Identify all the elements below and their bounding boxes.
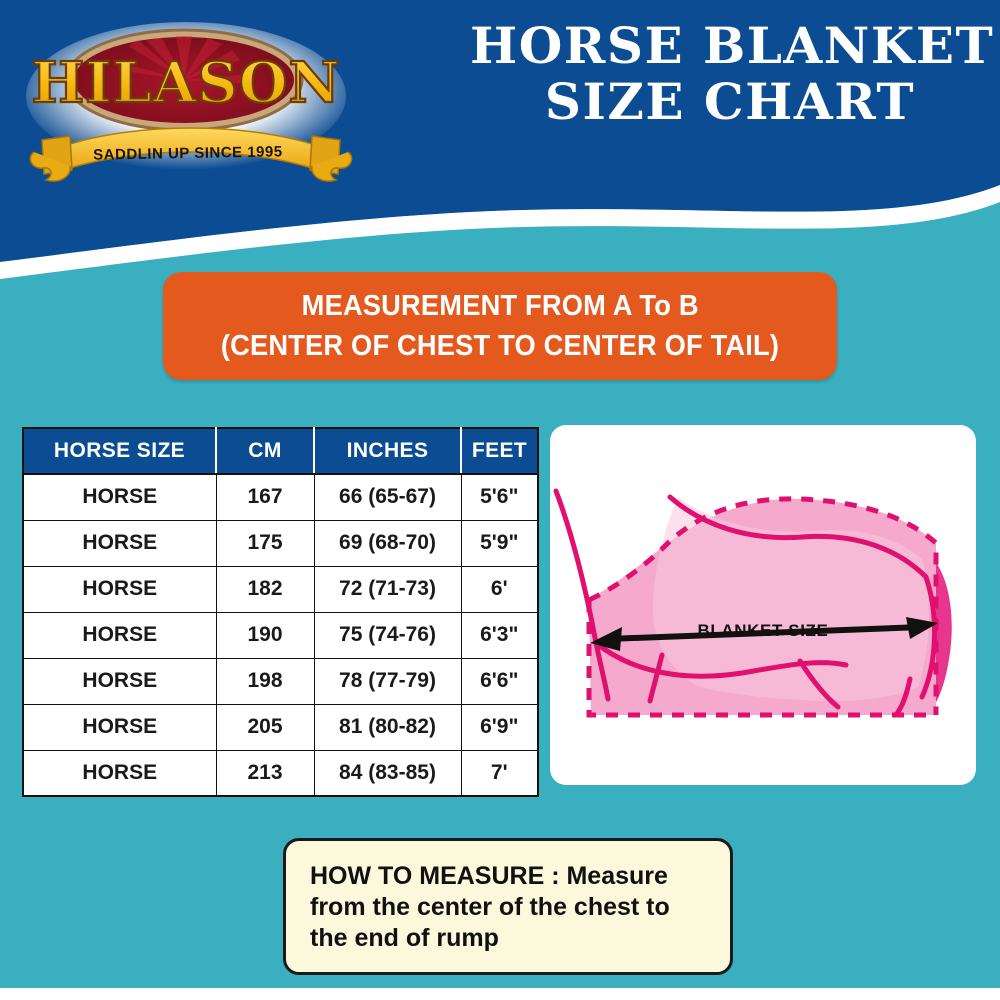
- page-header: HILASON SADDLIN UP SINCE 1995 HORSE BLAN…: [0, 0, 1000, 290]
- table-row: HORSE 182 72 (71-73) 6': [23, 566, 538, 612]
- cell-inches: 69 (68-70): [314, 520, 461, 566]
- cell-feet: 6'9": [461, 704, 538, 750]
- logo-brand-text: HILASON: [31, 50, 340, 116]
- page-title-line-1: HORSE BLANKET: [470, 18, 990, 74]
- size-chart-page: HILASON SADDLIN UP SINCE 1995 HORSE BLAN…: [0, 0, 1000, 1000]
- column-header-cm: CM: [216, 428, 314, 474]
- cell-horse-size: HORSE: [23, 566, 216, 612]
- cell-feet: 6'3": [461, 612, 538, 658]
- how-to-measure-label: HOW TO MEASURE :: [310, 862, 566, 890]
- column-header-feet: FEET: [461, 428, 538, 474]
- logo-tagline-text: SADDLIN UP SINCE 1995: [93, 143, 283, 163]
- measurement-banner: MEASUREMENT FROM A To B (CENTER OF CHEST…: [163, 272, 837, 380]
- cell-inches: 75 (74-76): [314, 612, 461, 658]
- bottom-strip: [0, 988, 1000, 1000]
- cell-inches: 84 (83-85): [314, 750, 461, 796]
- cell-cm: 182: [216, 566, 314, 612]
- cell-cm: 198: [216, 658, 314, 704]
- table-row: HORSE 175 69 (68-70) 5'9": [23, 520, 538, 566]
- cell-cm: 167: [216, 474, 314, 520]
- how-to-measure-text: HOW TO MEASURE : Measure from the center…: [310, 861, 706, 954]
- table-row: HORSE 198 78 (77-79) 6'6": [23, 658, 538, 704]
- column-header-horse-size: HORSE SIZE: [23, 428, 216, 474]
- cell-cm: 213: [216, 750, 314, 796]
- cell-cm: 205: [216, 704, 314, 750]
- cell-feet: 6': [461, 566, 538, 612]
- cell-cm: 190: [216, 612, 314, 658]
- cell-horse-size: HORSE: [23, 520, 216, 566]
- cell-horse-size: HORSE: [23, 704, 216, 750]
- page-title-line-2: SIZE CHART: [470, 74, 990, 130]
- how-to-measure-box: HOW TO MEASURE : Measure from the center…: [283, 838, 733, 975]
- cell-feet: 6'6": [461, 658, 538, 704]
- cell-horse-size: HORSE: [23, 750, 216, 796]
- table-header-row: HORSE SIZE CM INCHES FEET: [23, 428, 538, 474]
- cell-inches: 78 (77-79): [314, 658, 461, 704]
- table-row: HORSE 205 81 (80-82) 6'9": [23, 704, 538, 750]
- size-chart-table: HORSE SIZE CM INCHES FEET HORSE 167 66 (…: [22, 427, 539, 797]
- cell-cm: 175: [216, 520, 314, 566]
- page-title: HORSE BLANKET SIZE CHART: [470, 18, 990, 130]
- cell-horse-size: HORSE: [23, 658, 216, 704]
- cell-horse-size: HORSE: [23, 474, 216, 520]
- cell-inches: 72 (71-73): [314, 566, 461, 612]
- cell-inches: 81 (80-82): [314, 704, 461, 750]
- cell-feet: 5'9": [461, 520, 538, 566]
- hilason-logo: HILASON SADDLIN UP SINCE 1995: [26, 18, 356, 193]
- cell-horse-size: HORSE: [23, 612, 216, 658]
- column-header-inches: INCHES: [314, 428, 461, 474]
- horse-diagram-card: BLANKET SIZE: [550, 425, 976, 785]
- horse-diagram-icon: [550, 425, 976, 785]
- cell-feet: 5'6": [461, 474, 538, 520]
- measurement-banner-line-1: MEASUREMENT FROM A To B: [301, 286, 698, 326]
- table-row: HORSE 190 75 (74-76) 6'3": [23, 612, 538, 658]
- measurement-banner-line-2: (CENTER OF CHEST TO CENTER OF TAIL): [221, 326, 779, 366]
- table-row: HORSE 167 66 (65-67) 5'6": [23, 474, 538, 520]
- cell-inches: 66 (65-67): [314, 474, 461, 520]
- cell-feet: 7': [461, 750, 538, 796]
- table-row: HORSE 213 84 (83-85) 7': [23, 750, 538, 796]
